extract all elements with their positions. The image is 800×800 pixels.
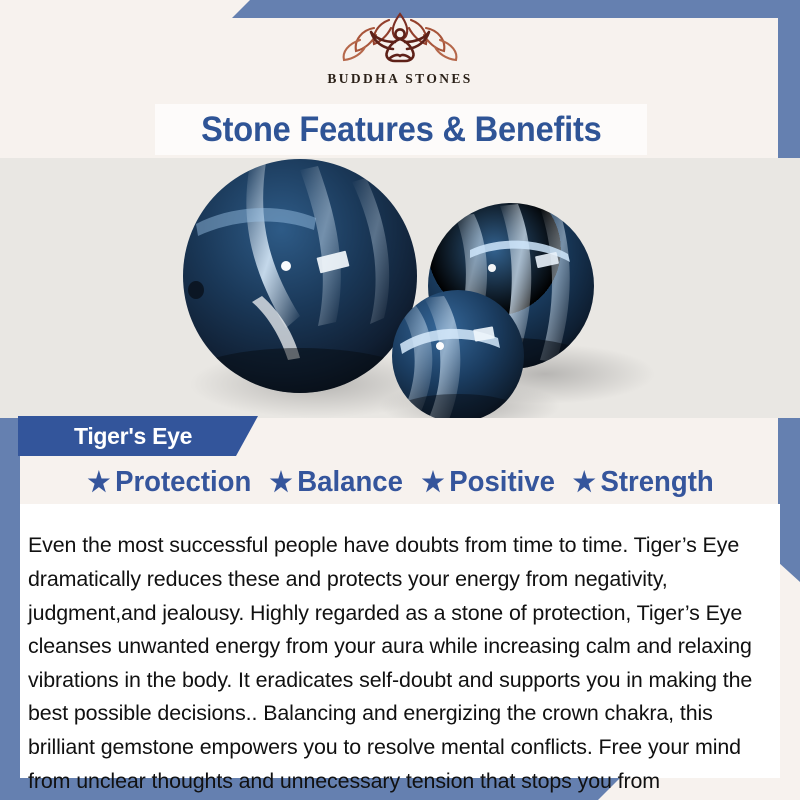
title-banner: Stone Features & Benefits xyxy=(155,104,647,155)
star-icon: ★ xyxy=(421,469,444,496)
page-title: Stone Features & Benefits xyxy=(201,110,602,150)
hero-image xyxy=(0,158,800,418)
benefit-label: Positive xyxy=(449,466,555,499)
stone-name-label: Tiger's Eye xyxy=(74,423,192,450)
lotus-meditation-icon xyxy=(334,8,466,70)
star-icon: ★ xyxy=(87,469,110,496)
benefits-list: ★ Protection ★ Balance ★ Positive ★ Stre… xyxy=(0,462,800,502)
star-icon: ★ xyxy=(270,469,293,496)
benefit-label: Strength xyxy=(601,466,714,499)
benefit-item-balance: ★ Balance xyxy=(270,466,403,499)
product-info-card: BUDDHA STONES Stone Features & Benefits xyxy=(0,0,800,800)
benefit-label: Balance xyxy=(297,466,403,499)
description-panel: Even the most successful people have dou… xyxy=(20,504,780,778)
benefit-label: Protection xyxy=(115,466,251,499)
benefit-item-protection: ★ Protection xyxy=(87,466,251,499)
benefit-item-strength: ★ Strength xyxy=(573,466,714,499)
brand-name: BUDDHA STONES xyxy=(327,71,472,87)
benefit-item-positive: ★ Positive xyxy=(421,466,554,499)
stone-name-ribbon: Tiger's Eye xyxy=(18,416,258,456)
description-text: Even the most successful people have dou… xyxy=(28,529,766,800)
star-icon: ★ xyxy=(573,469,596,496)
brand-logo: BUDDHA STONES xyxy=(0,8,800,100)
